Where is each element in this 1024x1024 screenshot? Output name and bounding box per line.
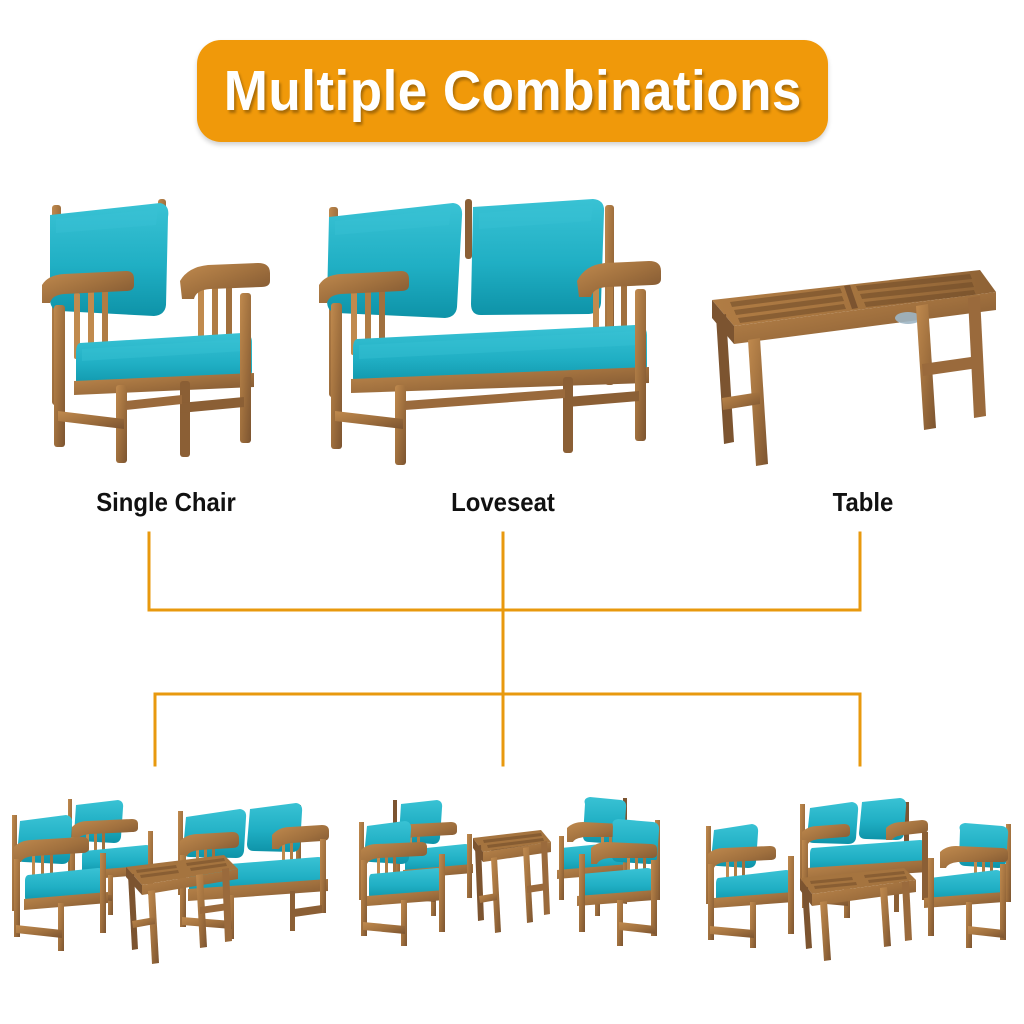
product-label-table: Table: [743, 489, 982, 515]
title-banner: Multiple Combinations: [197, 40, 828, 142]
product-loveseat: [305, 185, 665, 470]
page-title: Multiple Combinations: [223, 63, 801, 120]
connector-tree: [0, 520, 1024, 780]
product-label-loveseat: Loveseat: [383, 489, 622, 515]
product-label-single-chair: Single Chair: [46, 489, 285, 515]
combination-2: [345, 792, 675, 960]
product-single-chair: [30, 185, 290, 470]
combination-1: [0, 775, 340, 970]
product-table: [690, 248, 1010, 470]
combination-3: [692, 782, 1024, 962]
infographic-page: Multiple Combinations: [0, 0, 1024, 1024]
